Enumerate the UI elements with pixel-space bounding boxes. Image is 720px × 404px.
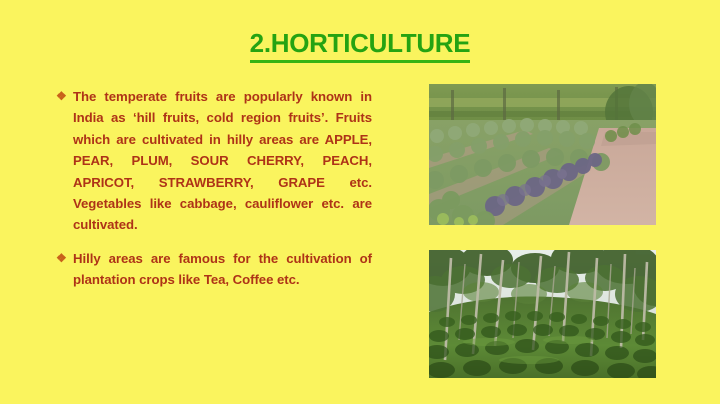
list-item-text-tail: Tea, Coffee etc. [204,272,300,287]
body-text-column: ❖ The temperate fruits are popularly kno… [56,86,372,291]
list-item-text: The temperate fruits are popularly known… [73,89,372,211]
diamond-bullet-icon: ❖ [56,86,67,107]
coffee-plantation-artwork [429,250,656,378]
image-coffee-plantation [429,250,656,378]
page-title: 2.HORTICULTURE [0,28,720,63]
list-item: ❖ The temperate fruits are popularly kno… [56,86,372,236]
page-title-text: 2.HORTICULTURE [250,28,471,63]
image-vegetable-garden [429,84,656,225]
vegetable-garden-artwork [429,84,656,225]
slide-canvas: 2.HORTICULTURE ❖ The temperate fruits ar… [0,0,720,404]
diamond-bullet-icon: ❖ [56,248,67,269]
list-item: ❖ Hilly areas are famous for the cultiva… [56,248,372,291]
